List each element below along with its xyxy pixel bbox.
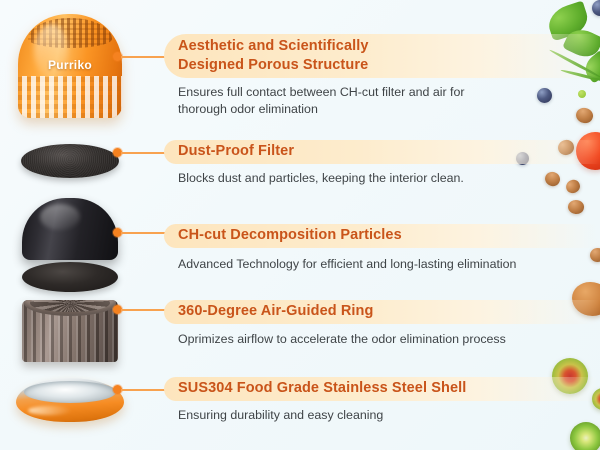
feature-description: Ensures full contact between CH-cut filt…	[164, 84, 578, 117]
feature-title: Aesthetic and Scientifically Designed Po…	[164, 37, 369, 75]
connector-line	[121, 389, 166, 391]
base-highlight	[28, 406, 72, 415]
dome-highlight	[40, 204, 80, 230]
blueberry-icon	[592, 0, 600, 16]
cap-side-vents	[18, 76, 122, 118]
stainless-steel-base-shell	[16, 378, 124, 422]
feature-description: Ensuring durability and easy cleaning	[164, 407, 598, 424]
orange-vented-cap: Purriko	[18, 14, 122, 118]
dust-proof-filter-disc	[21, 144, 119, 178]
feature-title: SUS304 Food Grade Stainless Steel Shell	[164, 379, 466, 398]
feature-title-pill: Dust-Proof Filter	[164, 140, 600, 164]
connector-line	[121, 309, 166, 311]
hazelnut-icon	[567, 199, 585, 215]
connector-line	[121, 152, 166, 154]
lower-filter-disc	[22, 262, 118, 292]
feature-title-pill: 360-Degree Air-Guided Ring	[164, 300, 600, 324]
green-pea-icon	[578, 90, 586, 98]
feature-title: Dust-Proof Filter	[164, 142, 294, 161]
feature-description: Blocks dust and particles, keeping the i…	[164, 170, 578, 187]
connector-line	[121, 56, 166, 58]
feature-description: Advanced Technology for efficient and lo…	[164, 256, 598, 273]
black-decomposition-dome	[22, 198, 118, 260]
feature-title-pill: Aesthetic and Scientifically Designed Po…	[164, 34, 600, 78]
kiwi-slice-icon	[570, 422, 600, 450]
brand-label: Purriko	[18, 58, 122, 72]
feature-description: Oprimizes airflow to accelerate the odor…	[164, 331, 598, 348]
feature-title: CH-cut Decomposition Particles	[164, 226, 402, 245]
infographic-canvas: Purriko Aesthetic and Scientifically Des…	[0, 0, 600, 450]
feature-title-pill: SUS304 Food Grade Stainless Steel Shell	[164, 377, 600, 401]
base-inner-surface	[24, 381, 116, 403]
connector-line	[121, 232, 166, 234]
feature-title-pill: CH-cut Decomposition Particles	[164, 224, 600, 248]
feature-title: 360-Degree Air-Guided Ring	[164, 302, 373, 321]
air-guided-fin-ring	[22, 300, 118, 362]
